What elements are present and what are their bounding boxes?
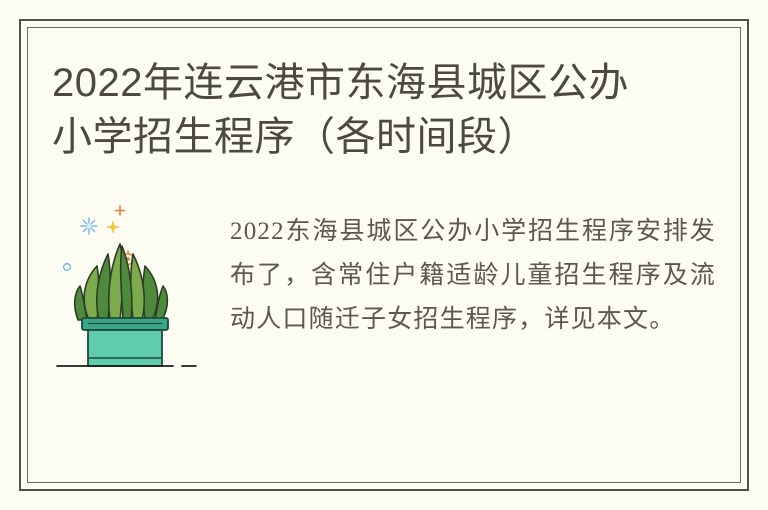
card-content: 2022东海县城区公办小学招生程序安排发布了，含常住户籍适龄儿童招生程序及流动人…	[52, 196, 716, 381]
sparkle-dot-blue	[64, 264, 71, 271]
plant-leaves	[75, 244, 168, 320]
sparkle-burst-yellow	[108, 222, 118, 232]
sparkle-plus-orange	[116, 206, 125, 215]
article-card: 2022年连云港市东海县城区公办 小学招生程序（各时间段）	[0, 0, 768, 510]
potted-plant-illustration	[52, 196, 202, 381]
plant-pot	[82, 318, 168, 366]
article-summary: 2022东海县城区公办小学招生程序安排发布了，含常住户籍适龄儿童招生程序及流动人…	[230, 210, 716, 342]
sparkle-snowflake-blue	[81, 218, 97, 234]
page-title: 2022年连云港市东海县城区公办 小学招生程序（各时间段）	[52, 56, 712, 164]
